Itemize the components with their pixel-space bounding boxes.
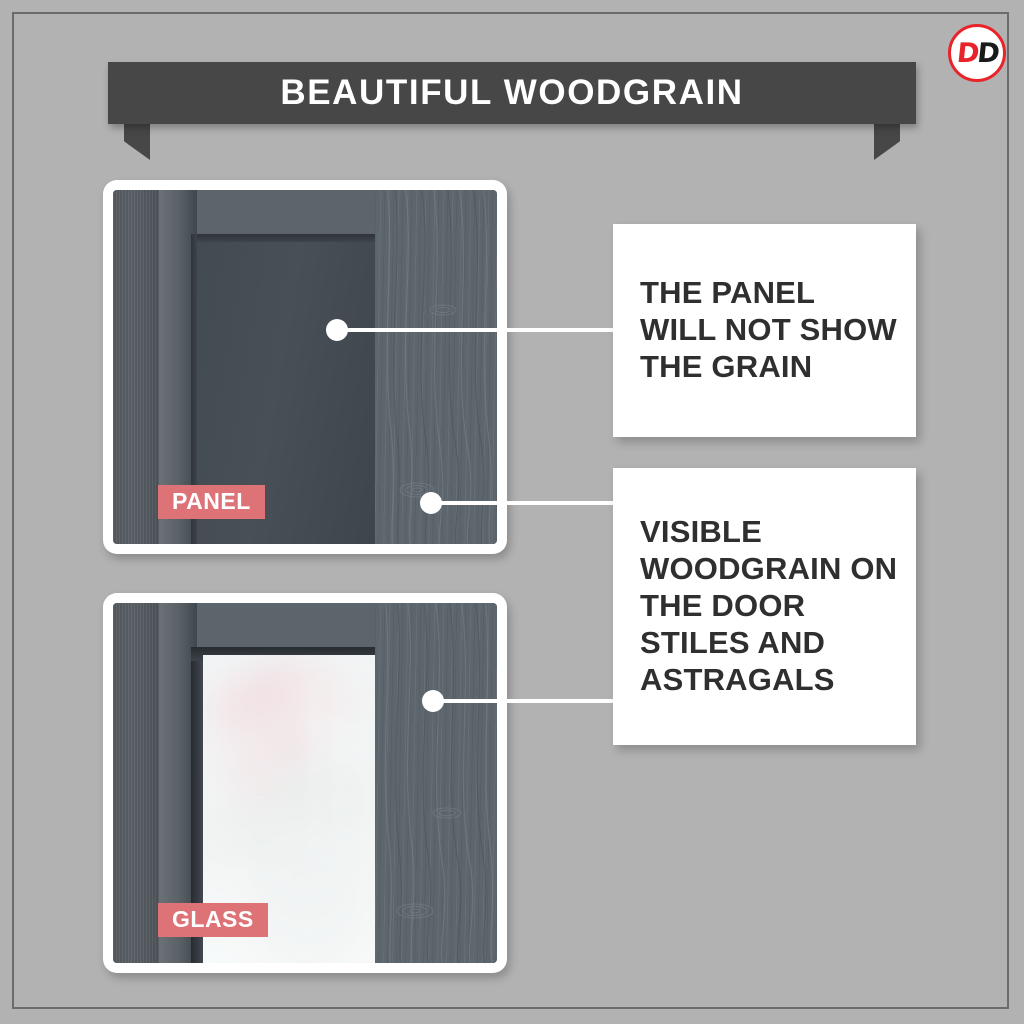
dd-logo-letter-2: D [975,38,999,69]
leader-line-panel [336,328,618,332]
leader-line-stile-lower [432,699,618,703]
ribbon-tail-right [874,124,900,160]
dd-logo: DD [948,24,1006,82]
woodgrain-figure [375,603,497,963]
door-outer-edge [113,603,159,963]
tag-glass: GLASS [158,903,268,937]
dd-logo-text: DD [955,40,999,67]
leader-line-stile-upper [430,501,618,505]
infographic-canvas: DD BEAUTIFUL WOODGRAIN [0,0,1024,1024]
woodgrain-stile [375,190,497,544]
callout-woodgrain-text: VISIBLE WOODGRAIN ON THE DOOR STILES AND… [613,514,916,698]
callout-panel: THE PANEL WILL NOT SHOW THE GRAIN [613,224,916,437]
ribbon-tail-left [124,124,150,160]
tag-panel: PANEL [158,485,265,519]
callout-panel-text: THE PANEL WILL NOT SHOW THE GRAIN [613,275,916,386]
page-title: BEAUTIFUL WOODGRAIN [108,62,916,124]
woodgrain-stile [375,603,497,963]
woodgrain-figure [375,190,497,544]
leader-dot-stile-upper [420,492,442,514]
door-outer-edge [113,190,159,544]
header-ribbon: BEAUTIFUL WOODGRAIN [108,62,916,124]
callout-woodgrain: VISIBLE WOODGRAIN ON THE DOOR STILES AND… [613,468,916,745]
leader-dot-panel [326,319,348,341]
leader-dot-stile-lower [422,690,444,712]
